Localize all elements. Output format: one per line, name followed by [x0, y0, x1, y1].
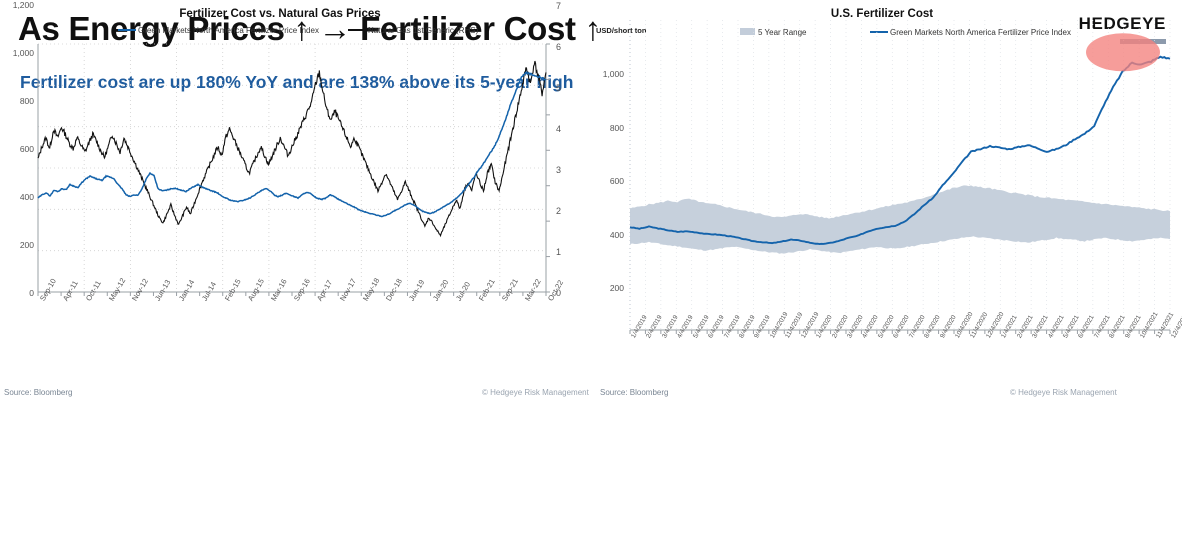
xtick-label-left: Sep-16 [292, 277, 312, 302]
source-note-left: Source: Bloomberg [4, 388, 72, 397]
xaxis-right: 1/4/20192/4/20193/4/20194/4/20195/4/2019… [592, 0, 1182, 405]
xtick-label-left: Mar-22 [523, 277, 543, 302]
xtick-label-left: Jan-14 [177, 278, 196, 302]
xtick-label-left: Feb-21 [477, 277, 497, 302]
xtick-label-left: Sep-21 [500, 277, 520, 302]
xtick-label-left: Feb-15 [223, 277, 243, 302]
xtick-label-left: Nov-12 [130, 277, 150, 302]
xtick-label-left: Mar-16 [269, 277, 289, 302]
xtick-label-left: Oct-11 [84, 279, 103, 303]
xtick-label-left: Dec-18 [384, 277, 404, 302]
xtick-label-left: Apr-11 [61, 279, 80, 303]
xtick-label-left: Jun-13 [153, 278, 172, 302]
source-note-right: Source: Bloomberg [600, 388, 668, 397]
chart-panel-us-fertilizer-cost: U.S. Fertilizer Cost USD/short ton 5 Yea… [592, 0, 1182, 405]
xaxis-left: Sep-10Apr-11Oct-11May-12Nov-12Jun-13Jan-… [0, 0, 592, 405]
chart-panel-fertilizer-vs-gas: Fertilizer Cost vs. Natural Gas Prices G… [0, 0, 592, 405]
xtick-label-left: Apr-17 [315, 279, 334, 303]
xtick-label-left: Jan-20 [431, 278, 450, 302]
copyright-note-right: © Hedgeye Risk Management [1010, 388, 1117, 397]
xtick-label-left: Jul-20 [454, 280, 472, 302]
xtick-label-left: Aug-15 [246, 277, 266, 302]
xtick-label-left: Sep-10 [38, 277, 58, 302]
copyright-note-left: © Hedgeye Risk Management [482, 388, 589, 397]
xtick-label-left: Jun-19 [407, 278, 426, 302]
xtick-label-left: Nov-17 [338, 277, 358, 302]
xtick-label-left: Jul-14 [200, 280, 218, 302]
xtick-label-left: May-12 [107, 276, 127, 302]
xtick-label-left: May-18 [361, 276, 381, 302]
xtick-label-left: Oct-22 [546, 279, 565, 303]
